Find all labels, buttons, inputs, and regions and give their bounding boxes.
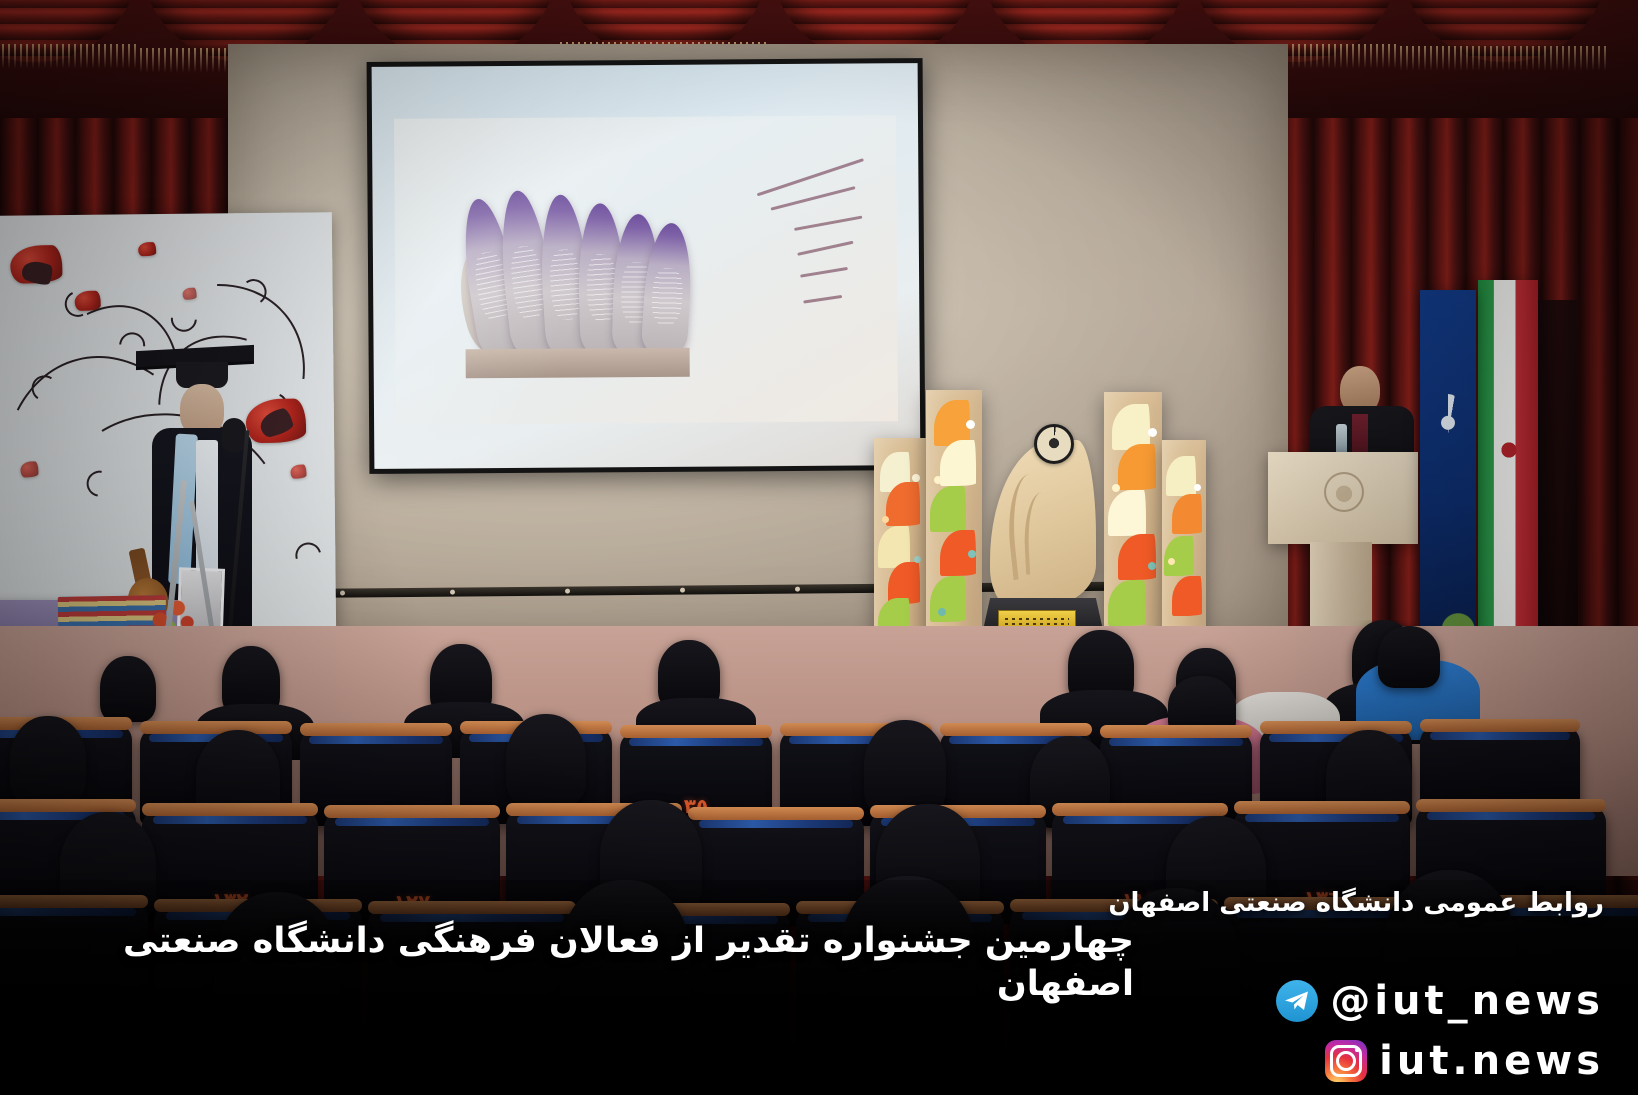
banner-flower [138,242,156,256]
auditorium-chair [368,908,576,1058]
audience-area: ٣٥ ١٣٢ ١٢٧ ١١٩ ١٣٦ [0,620,1638,1095]
projection-screen-frame [367,58,926,474]
banner-flower [183,288,197,300]
audience-head [100,656,156,722]
university-flag [1420,290,1476,640]
slide-trophy-base [465,347,690,378]
decor-pillar-far-right [1162,440,1206,640]
audience-head [1384,870,1516,1026]
audience-head [506,714,586,806]
audience-head [864,720,946,816]
audience-head [1112,888,1240,1038]
slide-trophy-group [474,150,737,378]
decor-pillar-tall-left [926,390,982,640]
microphone-icon [222,418,246,452]
decor-pillar-short [874,438,926,640]
banner-flower [290,465,306,479]
audience-head [560,880,690,1030]
audience-head [214,892,340,1038]
university-seal-icon [1034,424,1074,464]
slide-calligraphy [721,165,873,355]
audience-head [10,716,86,804]
podium-logo-icon [1324,472,1364,512]
banner-flower [20,461,38,477]
decor-pillar-tall-right [1104,392,1162,640]
flame-trophy [990,440,1096,640]
iran-flag [1478,280,1538,650]
slide-content [394,116,898,425]
projection-screen [372,63,921,469]
flag-dark [1538,300,1578,630]
audience-head [1378,626,1440,688]
banner-flower [75,291,101,311]
auditorium-chair [0,902,148,1052]
photo-canvas: ٣٥ ١٣٢ ١٢٧ ١١٩ ١٣٦ [0,0,1638,1095]
audience-head [840,876,976,1032]
